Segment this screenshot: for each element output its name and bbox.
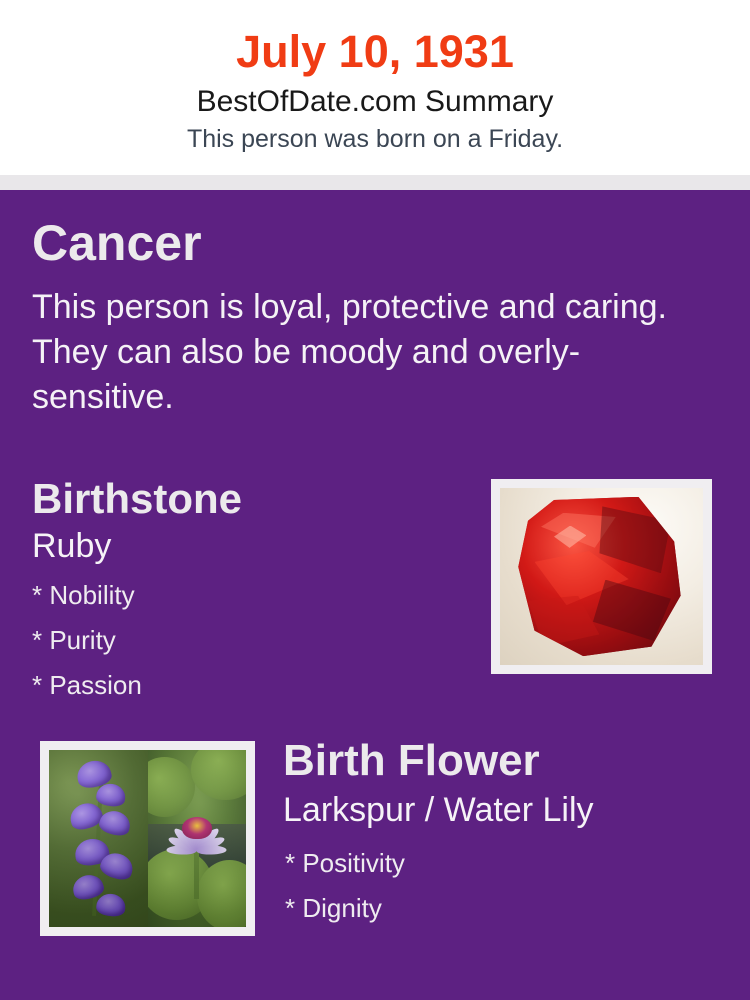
zodiac-description: This person is loyal, protective and car… xyxy=(32,285,672,420)
card-header: July 10, 1931 BestOfDate.com Summary Thi… xyxy=(0,0,750,175)
birth-weekday-text: This person was born on a Friday. xyxy=(0,119,750,154)
ruby-facet-icon xyxy=(593,580,671,644)
header-divider xyxy=(0,175,750,190)
birth-flower-image xyxy=(49,750,246,927)
ruby-facet-icon xyxy=(528,596,599,647)
summary-card: July 10, 1931 BestOfDate.com Summary Thi… xyxy=(0,0,750,1000)
photo-vignette xyxy=(49,750,148,927)
birthstone-name: Ruby xyxy=(32,523,472,567)
birthstone-trait-list: * Nobility * Purity * Passion xyxy=(32,567,472,708)
birth-flower-heading: Birth Flower xyxy=(283,735,733,787)
list-item: * Dignity xyxy=(285,886,733,931)
ruby-facet-icon xyxy=(599,506,670,573)
ruby-gem-shape xyxy=(518,497,680,656)
birthstone-image-frame xyxy=(491,479,712,674)
birth-flower-image-frame xyxy=(40,741,255,936)
photo-vignette xyxy=(148,750,247,927)
list-item: * Purity xyxy=(32,618,472,663)
page-title: July 10, 1931 xyxy=(0,0,750,78)
content-panel: Cancer This person is loyal, protective … xyxy=(0,190,750,1000)
birth-flower-section: Birth Flower Larkspur / Water Lily * Pos… xyxy=(283,735,733,931)
water-lily-photo xyxy=(148,750,247,927)
ruby-crystal-image xyxy=(500,488,703,665)
site-name: BestOfDate.com Summary xyxy=(0,78,750,119)
birthstone-section: Birthstone Ruby * Nobility * Purity * Pa… xyxy=(32,475,472,708)
list-item: * Positivity xyxy=(285,841,733,886)
birth-flower-trait-list: * Positivity * Dignity xyxy=(283,831,733,931)
zodiac-sign-title: Cancer xyxy=(32,215,202,271)
list-item: * Nobility xyxy=(32,573,472,618)
list-item: * Passion xyxy=(32,663,472,708)
larkspur-photo xyxy=(49,750,148,927)
birth-flower-name: Larkspur / Water Lily xyxy=(283,787,733,831)
birthstone-heading: Birthstone xyxy=(32,475,472,523)
